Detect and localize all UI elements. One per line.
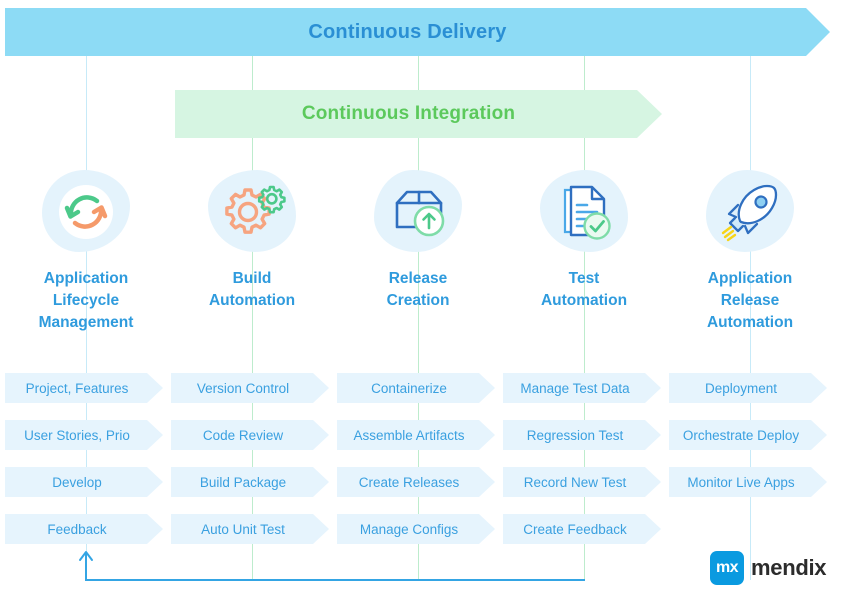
task-chevron[interactable]: Version Control: [171, 373, 329, 403]
stage-title-line: Management: [39, 312, 134, 334]
task-label: Code Review: [203, 428, 283, 443]
task-chevron[interactable]: Create Releases: [337, 467, 495, 497]
task-chevron[interactable]: Containerize: [337, 373, 495, 403]
document-check-icon: [536, 168, 632, 256]
rocket-icon: [702, 168, 798, 256]
task-label: Auto Unit Test: [201, 522, 285, 537]
continuous-delivery-banner: Continuous Delivery: [5, 8, 830, 56]
task-label: Assemble Artifacts: [353, 428, 464, 443]
stage-title-line: Automation: [541, 290, 627, 312]
stage-title: Application Release Automation: [707, 268, 793, 334]
continuous-delivery-label: Continuous Delivery: [308, 21, 506, 44]
task-label: Regression Test: [527, 428, 624, 443]
task-chevron[interactable]: Auto Unit Test: [171, 514, 329, 544]
task-label: Orchestrate Deploy: [683, 428, 799, 443]
task-chevron[interactable]: Create Feedback: [503, 514, 661, 544]
stage-title-line: Automation: [707, 312, 793, 334]
task-chevron[interactable]: Regression Test: [503, 420, 661, 450]
stage-title-line: Test: [541, 268, 627, 290]
stage-release-creation[interactable]: Release Creation: [335, 168, 501, 312]
refresh-cycle-icon: [38, 168, 134, 256]
stage-title-line: Lifecycle: [39, 290, 134, 312]
task-chevron[interactable]: Monitor Live Apps: [669, 467, 827, 497]
task-label: Feedback: [47, 522, 106, 537]
task-label: Develop: [52, 475, 102, 490]
diagram-canvas: Continuous Delivery Continuous Integrati…: [0, 0, 852, 597]
stage-title: Test Automation: [541, 268, 627, 312]
task-label: Project, Features: [26, 381, 129, 396]
task-chevron[interactable]: Manage Test Data: [503, 373, 661, 403]
task-label: Deployment: [705, 381, 777, 396]
stage-title-line: Creation: [387, 290, 450, 312]
stage-test-automation[interactable]: Test Automation: [501, 168, 667, 312]
task-chevron[interactable]: Develop: [5, 467, 163, 497]
task-label: Create Feedback: [523, 522, 627, 537]
stage-application-release-automation[interactable]: Application Release Automation: [667, 168, 833, 334]
gears-icon: [204, 168, 300, 256]
stage-title: Application Lifecycle Management: [39, 268, 134, 334]
stage-application-lifecycle-management[interactable]: Application Lifecycle Management: [3, 168, 169, 334]
stage-title: Build Automation: [209, 268, 295, 312]
task-chevron[interactable]: Code Review: [171, 420, 329, 450]
task-chevron[interactable]: Feedback: [5, 514, 163, 544]
task-label: Manage Test Data: [520, 381, 629, 396]
feedback-loop-arrow: [70, 545, 610, 593]
task-label: User Stories, Prio: [24, 428, 130, 443]
task-label: Monitor Live Apps: [687, 475, 794, 490]
task-chevron[interactable]: Deployment: [669, 373, 827, 403]
task-label: Record New Test: [524, 475, 627, 490]
stage-build-automation[interactable]: Build Automation: [169, 168, 335, 312]
mendix-logo-wordmark: mendix: [751, 555, 826, 581]
mendix-logo: mx mendix: [710, 551, 826, 585]
stage-title-line: Build: [209, 268, 295, 290]
stage-title-line: Automation: [209, 290, 295, 312]
stage-title-line: Application: [707, 268, 793, 290]
task-chevron[interactable]: Build Package: [171, 467, 329, 497]
continuous-integration-banner: Continuous Integration: [175, 90, 662, 138]
task-chevron[interactable]: Assemble Artifacts: [337, 420, 495, 450]
task-label: Manage Configs: [360, 522, 458, 537]
continuous-integration-label: Continuous Integration: [302, 103, 515, 125]
mendix-logo-mark: mx: [710, 551, 744, 585]
task-chevron[interactable]: Manage Configs: [337, 514, 495, 544]
task-label: Version Control: [197, 381, 289, 396]
task-label: Containerize: [371, 381, 447, 396]
task-chevron[interactable]: User Stories, Prio: [5, 420, 163, 450]
task-chevron[interactable]: Orchestrate Deploy: [669, 420, 827, 450]
stage-title-line: Release: [387, 268, 450, 290]
stage-title: Release Creation: [387, 268, 450, 312]
task-label: Create Releases: [359, 475, 460, 490]
task-label: Build Package: [200, 475, 286, 490]
stage-title-line: Release: [707, 290, 793, 312]
package-upload-icon: [370, 168, 466, 256]
stage-title-line: Application: [39, 268, 134, 290]
task-chevron[interactable]: Record New Test: [503, 467, 661, 497]
task-chevron[interactable]: Project, Features: [5, 373, 163, 403]
